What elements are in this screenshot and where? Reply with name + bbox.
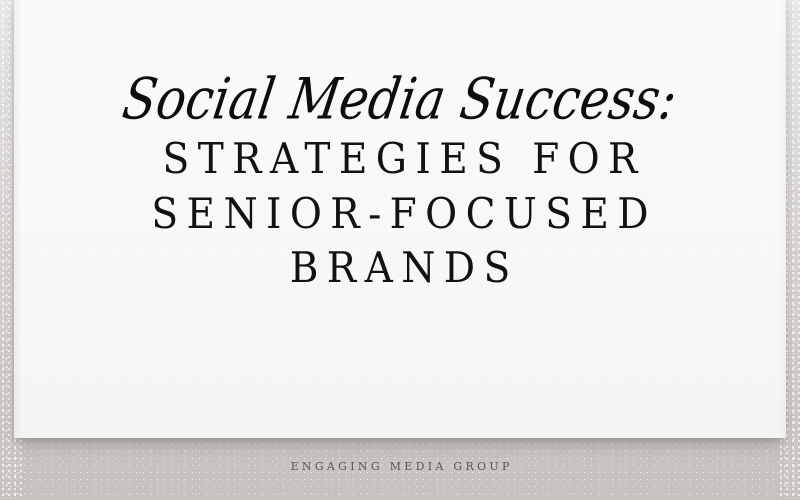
brand-wordmark: ENGAGING MEDIA GROUP: [0, 460, 800, 473]
title-block: Social Media Success: STRATEGIES FOR SEN…: [0, 74, 800, 296]
script-headline: Social Media Success:: [46, 71, 753, 128]
headline-line-2: SENIOR-FOCUSED: [65, 187, 735, 242]
headline-line-3: BRANDS: [65, 241, 735, 296]
headline-line-1: STRATEGIES FOR: [65, 132, 735, 187]
